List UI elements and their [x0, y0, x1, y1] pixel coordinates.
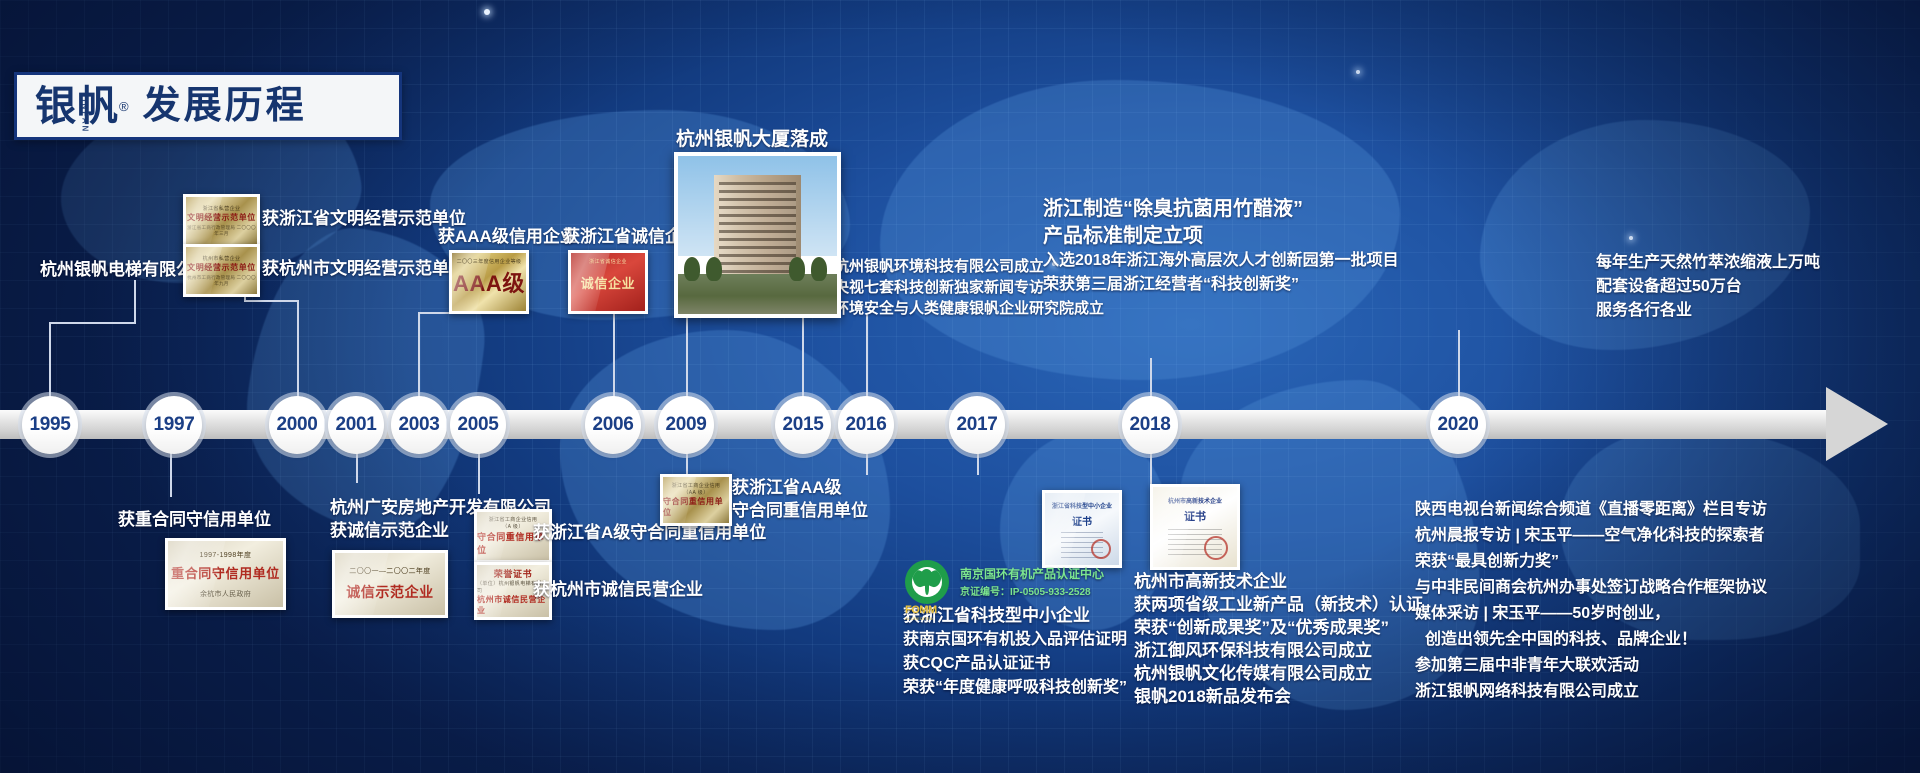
timeline-year-2009[interactable]: 2009	[658, 396, 714, 454]
connector-2015	[802, 313, 804, 398]
timeline-year-2003[interactable]: 2003	[391, 396, 447, 454]
sparkle-icon	[1629, 236, 1633, 240]
event-2001-line2: 获诚信示范企业	[330, 519, 449, 543]
event-2016-line3: 获CQC产品认证证书	[903, 653, 1051, 676]
connector-2020	[1458, 330, 1460, 398]
plaque-integrity-demo-2001: 二〇〇一—二〇〇二年度 诚信示范企业	[332, 550, 448, 618]
building-photo	[674, 152, 841, 318]
page-title-text: 发展历程	[143, 87, 307, 125]
event-2020-line3: 服务各行各业	[1596, 300, 1692, 323]
organic-logo-brand: FOMM	[905, 605, 949, 616]
event-2017-line2: 获两项省级工业新产品（新技术）认证	[1134, 593, 1423, 617]
timeline-year-1995[interactable]: 1995	[22, 396, 78, 454]
event-2018-bottom-line3: 荣获“最具创新力奖”	[1415, 551, 1559, 574]
event-2017-line6: 银帆2018新品发布会	[1134, 685, 1291, 709]
plaque-top-text: 二〇〇三年度信用企业等级	[457, 258, 522, 265]
organic-cert-number: 京证编号：IP-0505-933-2528	[960, 583, 1091, 598]
event-2018-bottom-line5: 媒体采访 | 宋玉平——50岁时创业，	[1415, 603, 1670, 626]
timeline-year-2020[interactable]: 2020	[1430, 396, 1486, 454]
brand-pinyin: YINFAN	[80, 92, 88, 133]
event-2000-province: 获浙江省文明经营示范单位	[262, 207, 466, 231]
event-2018-top-line4: 荣获第三届浙江经营者“科技创新奖”	[1043, 274, 1299, 297]
plaque-zhejiang-integrity-enterprise: 浙江省诚信企业 诚信企业	[568, 250, 648, 314]
brand-logo-text: 银帆	[35, 86, 119, 127]
connector-2003	[418, 312, 420, 398]
certificate-sme-tech: 浙江省科技型中小企业 证书	[1042, 490, 1122, 568]
connector-2009	[686, 313, 688, 398]
plaque-aaa-credit: 二〇〇三年度信用企业等级 AAA级	[449, 250, 529, 314]
timeline-year-2006[interactable]: 2006	[585, 396, 641, 454]
event-2017-line5: 杭州银帆文化传媒有限公司成立	[1134, 662, 1372, 686]
organic-logo-sub: ACCREDITED	[905, 616, 949, 621]
timeline-year-2015[interactable]: 2015	[775, 396, 831, 454]
timeline-year-2000[interactable]: 2000	[269, 396, 325, 454]
event-2018-bottom-line2: 杭州晨报专访 | 宋玉平——空气净化科技的探索者	[1415, 525, 1764, 548]
plaque-zhejiang-civilized-business: 浙江省私营企业 文明经营示范单位 浙江省工商行政管理局 二〇〇〇年三月	[183, 194, 260, 247]
event-2020-line2: 配套设备超过50万台	[1596, 276, 1742, 299]
event-2018-bottom-line7: 参加第三届中非青年大联欢活动	[1415, 655, 1639, 678]
page-title: 银帆 YINFAN ® 发展历程	[14, 72, 402, 140]
timeline-year-2018[interactable]: 2018	[1122, 396, 1178, 454]
event-2009-line2: 守合同重信用单位	[732, 499, 868, 523]
connector-2000-h	[244, 300, 299, 302]
connector-1995-h	[49, 322, 134, 324]
timeline-arrow-icon	[1826, 387, 1888, 461]
event-2015-line3: 环境安全与人类健康银帆企业研究院成立	[834, 298, 1104, 319]
event-2017-line4: 浙江御风环保科技有限公司成立	[1134, 639, 1372, 663]
timeline-year-2016[interactable]: 2016	[838, 396, 894, 454]
event-2015-line2: 央视七套科技创新独家新闻专访	[834, 277, 1044, 298]
connector-1995-up	[134, 280, 136, 324]
event-2018-bottom-line6: 创造出领先全中国的科技、品牌企业！	[1425, 629, 1697, 652]
event-2017-line1: 杭州市高新技术企业	[1134, 570, 1287, 594]
event-2017-line3: 荣获“创新成果奖”及“优秀成果奖”	[1134, 616, 1389, 640]
connector-2018	[1150, 358, 1152, 398]
event-2018-bottom-line4: 与中非民间商会杭州办事处签订战略合作框架协议	[1415, 577, 1767, 600]
sparkle-icon	[1356, 70, 1360, 74]
event-2018-top-line1: 浙江制造“除臭抗菌用竹醋液”	[1043, 195, 1303, 223]
sparkle-icon	[484, 9, 490, 15]
connector-2016	[866, 313, 868, 398]
event-2015-line1: 杭州银帆环境科技有限公司成立	[834, 256, 1044, 277]
event-2016-line2: 获南京国环有机投入品评估证明	[903, 629, 1127, 652]
plaque-top-text: 浙江省诚信企业	[589, 258, 627, 265]
connector-2006	[613, 308, 615, 398]
event-2018-top-line2: 产品标准制定立项	[1043, 222, 1203, 250]
infographic-canvas: 银帆 YINFAN ® 发展历程 1995 1997 2000 2001 200…	[0, 0, 1920, 773]
plaque-zhejiang-aa-contract: 浙江省工商企业信用 （AA 级） 守合同重信用单位	[660, 474, 732, 526]
event-2018-top-line3: 入选2018年浙江海外高层次人才创新园第一批项目	[1043, 250, 1399, 273]
registered-trademark-icon: ®	[119, 99, 129, 114]
event-building-caption: 杭州银帆大厦落成	[676, 127, 828, 154]
timeline-year-2005[interactable]: 2005	[450, 396, 506, 454]
timeline-year-2001[interactable]: 2001	[328, 396, 384, 454]
event-2003-aaa: 获AAA级信用企业	[438, 225, 577, 249]
timeline-year-2017[interactable]: 2017	[949, 396, 1005, 454]
event-2000-city: 获杭州市文明经营示范单位	[262, 257, 466, 281]
event-2005: 获杭州市诚信民营企业	[533, 578, 703, 602]
connector-1995	[49, 322, 51, 398]
event-2009-line1: 获浙江省AA级	[732, 476, 842, 500]
event-2018-bottom-line1: 陕西电视台新闻综合频道《直播零距离》栏目专访	[1415, 499, 1767, 522]
plaque-hangzhou-civilized-business: 杭州市私营企业 文明经营示范单位 杭州市工商行政管理局 二〇〇〇年九月	[183, 244, 260, 297]
event-2020-line1: 每年生产天然竹萃浓缩液上万吨	[1596, 252, 1820, 275]
event-2016-line4: 荣获“年度健康呼吸科技创新奖”	[903, 677, 1127, 700]
plaque-contract-credit-1997: 1997-1998年度 重合同守信用单位 余杭市人民政府	[165, 538, 286, 610]
organic-certification-logo: FOMM ACCREDITED	[905, 560, 949, 604]
event-1997: 获重合同守信用单位	[118, 508, 271, 532]
timeline-year-1997[interactable]: 1997	[146, 396, 202, 454]
organic-center-name: 南京国环有机产品认证中心	[960, 565, 1104, 582]
certificate-high-tech-enterprise: 杭州市高新技术企业 证书	[1150, 484, 1240, 570]
event-2018-bottom-line8: 浙江银帆网络科技有限公司成立	[1415, 681, 1639, 704]
connector-2000	[297, 300, 299, 398]
